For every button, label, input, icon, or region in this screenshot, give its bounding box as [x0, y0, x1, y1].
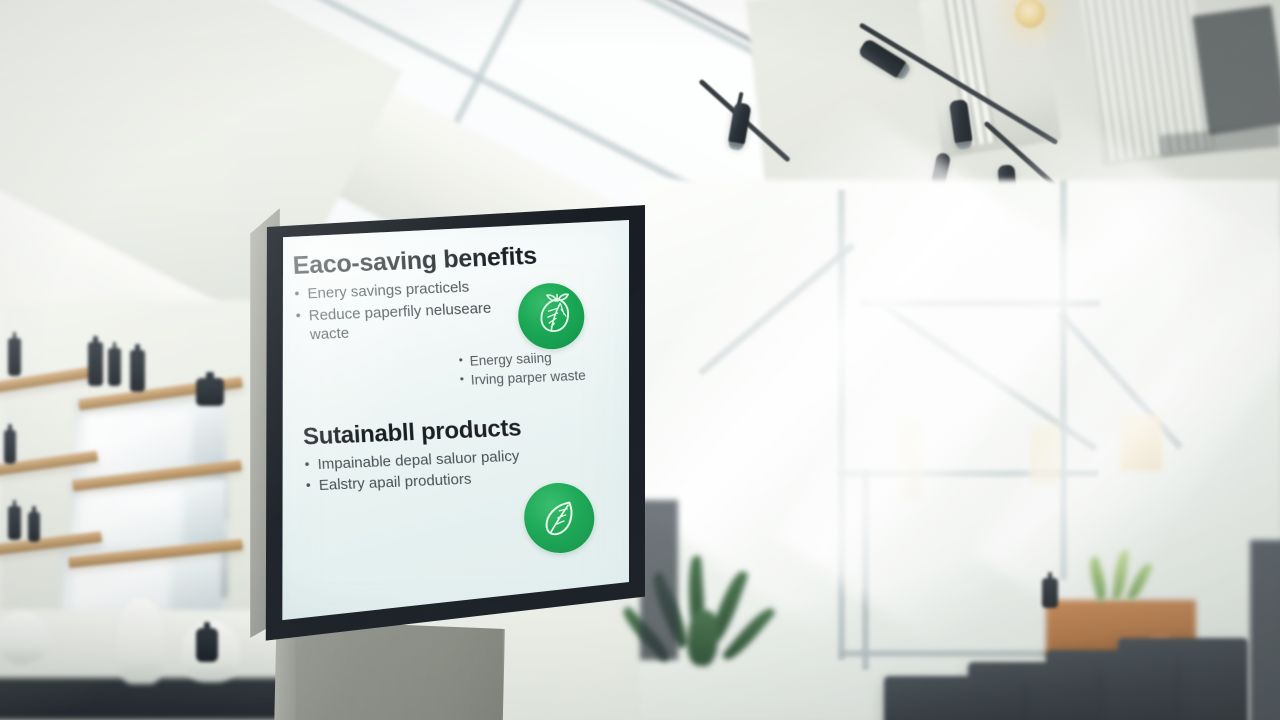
- leaf-outline-badge: [522, 482, 596, 555]
- bottle-8: [28, 512, 40, 542]
- list-item: Reduce paperfily neluseare wacte: [295, 297, 520, 345]
- bottle-3: [108, 348, 121, 386]
- bottle-5: [196, 378, 224, 406]
- left-counter-base: [0, 678, 290, 720]
- cabinet-plant: [1074, 548, 1164, 618]
- bullet-list-secondary: Energy saiing Irving parper waste: [458, 347, 610, 392]
- slide-content: Eaco-saving benefits Enery savings pract…: [292, 238, 643, 611]
- bullet-list-tertiary: Impainable depal saluor palicy Ealstry a…: [304, 441, 636, 496]
- signage-kiosk[interactable]: Eaco-saving benefits Enery savings pract…: [250, 200, 650, 720]
- bottle-2: [88, 342, 103, 386]
- scene-root: Eaco-saving benefits Enery savings pract…: [0, 0, 1280, 720]
- vase-white: [118, 598, 164, 684]
- counter-item-dark: [196, 628, 218, 662]
- leaf-sprig-icon: [527, 292, 576, 340]
- bottle-4: [130, 350, 145, 392]
- ceiling-dark-recess: [1192, 5, 1280, 135]
- bottle-6: [4, 430, 16, 464]
- right-edge-column: [1250, 540, 1280, 720]
- bottle-1: [8, 338, 21, 376]
- chair-1: [884, 676, 1024, 720]
- cabinet-bottle: [1042, 578, 1058, 608]
- leaf-outline-icon: [536, 495, 583, 541]
- bottle-7: [8, 506, 21, 540]
